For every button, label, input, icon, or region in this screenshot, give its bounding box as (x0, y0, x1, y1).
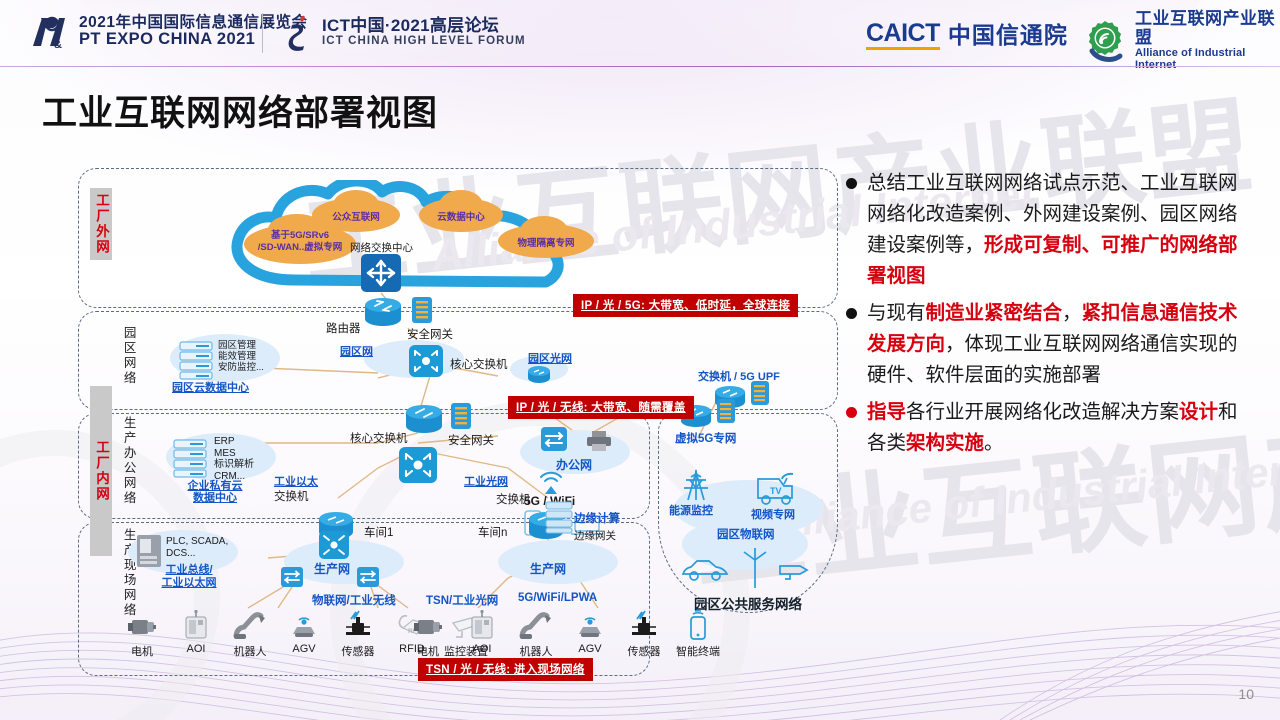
device-icon-机器人 (519, 608, 553, 640)
bullet-item-1: 总结工业互联网网络试点示范、工业互联网网络化改造案例、外网建设案例、园区网络建设… (846, 168, 1256, 292)
bullet-3-segment-0: 指导 (867, 401, 906, 423)
security-gateway-label-office: 安全网关 (448, 432, 494, 448)
core-switch-icon-park[interactable] (408, 344, 444, 378)
device-item-left-2[interactable]: 机器人 (230, 608, 270, 659)
device-icon-AGV (289, 608, 319, 640)
device-icon-AGV (575, 608, 605, 640)
industrial-ethernet-switch-label: 交换机 (274, 488, 309, 504)
device-label-left-2: 机器人 (234, 643, 267, 659)
wifi-antenna-icon[interactable] (536, 468, 566, 494)
pt-expo-logo: & 2021年中国国际信息通信展览会 PT EXPO CHINA 2021 (28, 12, 307, 52)
ict-logo-mark (284, 11, 314, 53)
device-label-left-0: 电机 (131, 643, 153, 659)
ict-logo-line1: ICT中国·2021高层论坛 (322, 17, 526, 35)
ict-forum-logo: ICT中国·2021高层论坛 ICT CHINA HIGH LEVEL FORU… (284, 11, 526, 53)
header-divider (0, 66, 1280, 67)
edge-compute-label: 边缘计算 (574, 510, 620, 526)
bullet-2-segment-1: 制造业紧密结合 (926, 302, 1063, 324)
device-label-right-3: AGV (578, 643, 601, 655)
server-rack-icon-park[interactable] (178, 340, 214, 380)
device-item-right-2[interactable]: 机器人 (516, 608, 556, 659)
security-gateway-icon-park[interactable] (411, 296, 433, 324)
device-icon-智能终端 (687, 608, 709, 640)
router-icon-park[interactable] (362, 293, 404, 329)
bullet-3-segment-1: 各行业开展网络化改造解决方案 (906, 401, 1179, 423)
workshop1-label: 车间1 (364, 524, 393, 540)
bullet-text-3: 指导各行业开展网络化改造解决方案设计和各类架构实施。 (867, 397, 1256, 459)
router-label-park: 路由器 (326, 320, 361, 336)
device-item-right-5[interactable]: 智能终端 (678, 608, 718, 659)
workshopn-label: 车间n (478, 524, 507, 540)
security-gateway-icon-office[interactable] (450, 402, 472, 430)
virtual-5g-label: 虚拟5G专网 (675, 430, 736, 446)
park-net-label: 园区网 (340, 343, 373, 359)
bullet-3-segment-2: 设计 (1179, 401, 1218, 423)
device-item-right-4[interactable]: 传感器 (624, 608, 664, 659)
bullet-item-2: 与现有制造业紧密结合，紧扣信息通信技术发展方向，体现工业互联网网络通信实现的硬件… (846, 298, 1256, 391)
video-net-label: 视频专网 (751, 506, 795, 522)
bullet-2-segment-2: ， (1062, 302, 1082, 324)
device-item-right-3[interactable]: AGV (570, 608, 610, 659)
bullet-item-3: 指导各行业开展网络化改造解决方案设计和各类架构实施。 (846, 397, 1256, 459)
device-row-right: 电机AOI机器人AGV传感器智能终端 (408, 608, 718, 659)
surveillance-camera-icon[interactable] (776, 558, 812, 584)
device-label-right-2: 机器人 (520, 643, 553, 659)
caict-logo-en-text: CAICT (866, 19, 940, 47)
controllers-label: PLC, SCADA, DCS... (166, 536, 228, 560)
svg-text:TV: TV (770, 486, 782, 496)
router-icon-office[interactable] (403, 400, 445, 436)
bullet-text-2: 与现有制造业紧密结合，紧扣信息通信技术发展方向，体现工业互联网网络通信实现的硬件… (867, 298, 1256, 391)
tv-van-icon[interactable]: TV (750, 466, 802, 508)
device-item-right-0[interactable]: 电机 (408, 608, 448, 659)
ict-logo-line2: ICT CHINA HIGH LEVEL FORUM (322, 35, 526, 47)
park-cloud-dc-label: 园区云数据中心 (172, 379, 249, 395)
aii-logo-line2: Alliance of Industrial Internet (1135, 47, 1280, 71)
caict-logo-en: CAICT (866, 19, 940, 48)
red-banner-ip-optical-wireless: IP / 光 / 无线: 大带宽、随需覆盖 (508, 396, 694, 419)
caict-logo: CAICT 中国信通院 (866, 16, 1068, 50)
private-cloud-label: 企业私有云 数据中心 (160, 480, 270, 504)
device-icon-传感器 (343, 608, 373, 640)
bullet-text-1: 总结工业互联网网络试点示范、工业互联网网络化改造案例、外网建设案例、园区网络建设… (867, 168, 1256, 292)
iot-wireless-label: 物联网/工业无线 (312, 592, 396, 608)
energy-monitor-label: 能源监控 (669, 502, 713, 518)
device-item-left-1[interactable]: AOI (176, 608, 216, 659)
private-cloud-apps: ERP MES 标识解析 CRM... (214, 436, 254, 482)
device-label-right-0: 电机 (417, 643, 439, 659)
core-switch-label-park: 核心交换机 (450, 356, 508, 372)
page-title: 工业互联网网络部署视图 (42, 85, 438, 136)
park-cloud-dc-services: 园区管理 能效管理 安防监控... (218, 340, 264, 373)
security-gateway-icon-upf[interactable] (750, 380, 770, 406)
switch-icon-office-net[interactable] (540, 426, 568, 452)
device-icon-AOI (469, 608, 495, 640)
production-net-label-2: 生产网 (530, 560, 566, 577)
red-banner-tsn-optical-wireless: TSN / 光 / 无线: 进入现场网络 (418, 658, 593, 681)
bullet-panel: 总结工业互联网网络试点示范、工业互联网网络化改造案例、外网建设案例、园区网络建设… (846, 168, 1256, 465)
industrial-ethernet-label: 工业以太 (274, 473, 318, 489)
red-banner-ip-optical-5g: IP / 光 / 5G: 大带宽、低时延，全球连接 (573, 294, 798, 317)
device-icon-机器人 (233, 608, 267, 640)
bullet-dot-2 (846, 308, 857, 319)
bullet-dot-3 (846, 407, 857, 418)
device-label-right-5: 智能终端 (676, 643, 720, 659)
wireless-5g-label: 5G/WiFi/LPWA (518, 592, 597, 604)
caict-underline (866, 47, 940, 50)
header-divider-vertical (262, 13, 263, 53)
printer-icon[interactable] (586, 430, 612, 452)
page-number: 10 (1238, 686, 1254, 702)
device-label-left-3: AGV (292, 643, 315, 655)
production-net-label-1: 生产网 (314, 560, 350, 577)
bullet-3-segment-5: 。 (984, 432, 1004, 454)
device-item-left-3[interactable]: AGV (284, 608, 324, 659)
security-gateway-icon-virtual5g[interactable] (716, 398, 736, 424)
device-item-right-1[interactable]: AOI (462, 608, 502, 659)
industrial-optical-label: 工业光网 (464, 473, 508, 489)
switch-icon-iot[interactable] (356, 566, 380, 588)
wind-turbine-icon[interactable] (740, 546, 770, 590)
server-rack-icon-edge[interactable] (544, 500, 574, 534)
edge-gateway-label: 边缘网关 (574, 528, 616, 543)
car-icon[interactable] (680, 556, 730, 584)
pt-logo-mark: & (28, 12, 72, 52)
park-iot-label: 园区物联网 (717, 526, 775, 542)
device-label-left-4: 传感器 (342, 643, 375, 659)
fieldbus-label: 工业总线/ 工业以太网 (134, 564, 244, 590)
bullet-3-segment-4: 架构实施 (906, 432, 984, 454)
device-icon-AOI (183, 608, 209, 640)
pt-logo-line2: PT EXPO CHINA 2021 (79, 31, 307, 48)
device-item-left-4[interactable]: 传感器 (338, 608, 378, 659)
caict-logo-cn: 中国信通院 (948, 16, 1068, 50)
device-item-left-0[interactable]: 电机 (122, 608, 162, 659)
device-icon-传感器 (629, 608, 659, 640)
network-deployment-diagram: 工厂外网 工厂内网 园区网络 生产办公网络 生产现场网络 公众互联网 云数据中心… (78, 168, 838, 676)
switch-icon-fieldbus[interactable] (280, 566, 304, 588)
aii-logo-line1: 工业互联网产业联盟 (1135, 10, 1280, 47)
device-label-left-1: AOI (187, 643, 206, 655)
device-label-right-1: AOI (473, 643, 492, 655)
page-header: & 2021年中国国际信息通信展览会 PT EXPO CHINA 2021 IC… (0, 0, 1280, 67)
pt-logo-line1: 2021年中国国际信息通信展览会 (79, 15, 307, 31)
svg-text:&: & (54, 39, 62, 51)
router-icon-optical[interactable] (526, 364, 552, 384)
plc-controller-icon[interactable] (136, 534, 162, 568)
gear-wifi-icon (1082, 18, 1128, 64)
core-switch-icon-office[interactable] (398, 446, 438, 484)
core-switch-label-office: 核心交换机 (350, 430, 408, 446)
aii-logo: 工业互联网产业联盟 Alliance of Industrial Interne… (1082, 10, 1280, 72)
power-tower-icon[interactable] (679, 468, 713, 502)
tsn-optical-label: TSN/工业光网 (426, 592, 498, 608)
device-icon-电机 (127, 608, 157, 640)
production-switch-icon-1[interactable] (318, 530, 350, 560)
bullet-dot-1 (846, 178, 857, 189)
device-icon-电机 (413, 608, 443, 640)
server-rack-icon-office[interactable] (172, 438, 208, 478)
bullet-2-segment-0: 与现有 (867, 302, 926, 324)
device-label-right-4: 传感器 (628, 643, 661, 659)
